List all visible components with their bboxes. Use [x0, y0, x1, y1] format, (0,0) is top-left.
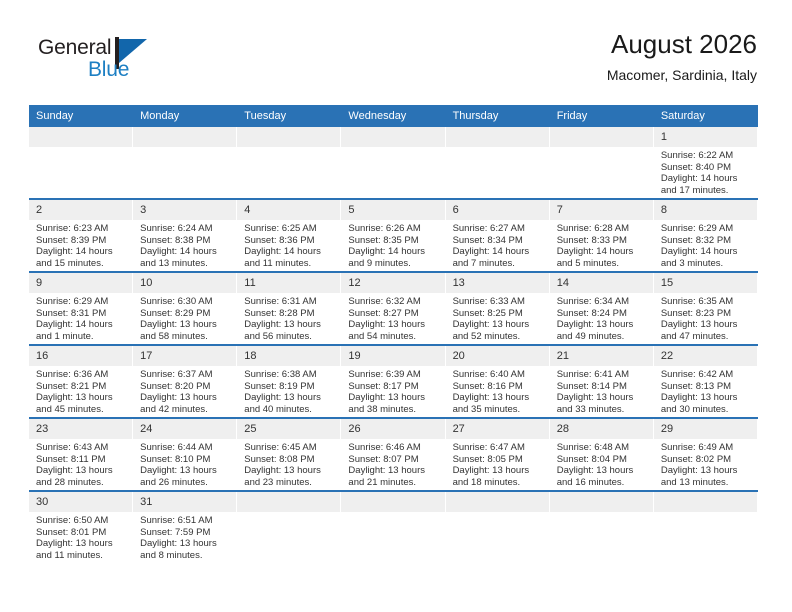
sunset-text: Sunset: 8:07 PM [348, 454, 440, 466]
daylight-text-line1: Daylight: 14 hours [36, 246, 128, 258]
title-block: August 2026 Macomer, Sardinia, Italy [607, 30, 757, 83]
sunset-text: Sunset: 8:24 PM [557, 308, 649, 320]
page-header: General Blue August 2026 Macomer, Sardin… [0, 0, 792, 100]
daylight-text-line2: and 40 minutes. [244, 404, 336, 416]
sunrise-text: Sunrise: 6:37 AM [140, 369, 232, 381]
calendar-cell-empty [341, 491, 445, 563]
sunrise-text: Sunrise: 6:25 AM [244, 223, 336, 235]
day-number: 10 [133, 273, 237, 293]
day-details: Sunrise: 6:28 AMSunset: 8:33 PMDaylight:… [550, 220, 654, 269]
calendar-cell-empty [29, 127, 133, 199]
calendar-day-cell[interactable]: 1Sunrise: 6:22 AMSunset: 8:40 PMDaylight… [654, 127, 758, 199]
calendar-day-cell[interactable]: 20Sunrise: 6:40 AMSunset: 8:16 PMDayligh… [446, 345, 550, 418]
daylight-text-line1: Daylight: 13 hours [453, 465, 545, 477]
day-details: Sunrise: 6:31 AMSunset: 8:28 PMDaylight:… [237, 293, 341, 342]
daylight-text-line2: and 58 minutes. [140, 331, 232, 343]
sunrise-text: Sunrise: 6:29 AM [36, 296, 128, 308]
daylight-text-line2: and 28 minutes. [36, 477, 128, 489]
daylight-text-line1: Daylight: 13 hours [244, 465, 336, 477]
daylight-text-line2: and 33 minutes. [557, 404, 649, 416]
sunset-text: Sunset: 8:01 PM [36, 527, 128, 539]
calendar-day-cell[interactable]: 17Sunrise: 6:37 AMSunset: 8:20 PMDayligh… [133, 345, 237, 418]
daylight-text-line1: Daylight: 14 hours [453, 246, 545, 258]
day-number [341, 492, 445, 512]
day-details: Sunrise: 6:35 AMSunset: 8:23 PMDaylight:… [654, 293, 758, 342]
calendar-day-cell[interactable]: 18Sunrise: 6:38 AMSunset: 8:19 PMDayligh… [237, 345, 341, 418]
daylight-text-line1: Daylight: 13 hours [36, 465, 128, 477]
sunset-text: Sunset: 8:04 PM [557, 454, 649, 466]
daylight-text-line1: Daylight: 13 hours [244, 319, 336, 331]
sunrise-text: Sunrise: 6:35 AM [661, 296, 753, 308]
daylight-text-line2: and 21 minutes. [348, 477, 440, 489]
daylight-text-line1: Daylight: 14 hours [244, 246, 336, 258]
day-number: 25 [237, 419, 341, 439]
daylight-text-line2: and 49 minutes. [557, 331, 649, 343]
day-number: 17 [133, 346, 237, 366]
sunrise-text: Sunrise: 6:47 AM [453, 442, 545, 454]
weekday-header-saturday: Saturday [654, 105, 758, 127]
daylight-text-line2: and 26 minutes. [140, 477, 232, 489]
daylight-text-line1: Daylight: 13 hours [557, 392, 649, 404]
day-details: Sunrise: 6:45 AMSunset: 8:08 PMDaylight:… [237, 439, 341, 488]
day-details [237, 147, 341, 150]
calendar-table: Sunday Monday Tuesday Wednesday Thursday… [29, 105, 758, 563]
weekday-header-friday: Friday [550, 105, 654, 127]
daylight-text-line1: Daylight: 13 hours [140, 465, 232, 477]
day-details: Sunrise: 6:38 AMSunset: 8:19 PMDaylight:… [237, 366, 341, 415]
calendar-day-cell[interactable]: 12Sunrise: 6:32 AMSunset: 8:27 PMDayligh… [341, 272, 445, 345]
calendar-day-cell[interactable]: 9Sunrise: 6:29 AMSunset: 8:31 PMDaylight… [29, 272, 133, 345]
daylight-text-line2: and 18 minutes. [453, 477, 545, 489]
sunset-text: Sunset: 8:13 PM [661, 381, 753, 393]
calendar-week-row: 23Sunrise: 6:43 AMSunset: 8:11 PMDayligh… [29, 418, 758, 491]
day-details: Sunrise: 6:37 AMSunset: 8:20 PMDaylight:… [133, 366, 237, 415]
day-details: Sunrise: 6:33 AMSunset: 8:25 PMDaylight:… [446, 293, 550, 342]
day-details: Sunrise: 6:43 AMSunset: 8:11 PMDaylight:… [29, 439, 133, 488]
day-number: 3 [133, 200, 237, 220]
calendar-day-cell[interactable]: 7Sunrise: 6:28 AMSunset: 8:33 PMDaylight… [550, 199, 654, 272]
daylight-text-line1: Daylight: 13 hours [557, 465, 649, 477]
day-number: 30 [29, 492, 133, 512]
sunrise-text: Sunrise: 6:41 AM [557, 369, 649, 381]
sunrise-text: Sunrise: 6:38 AM [244, 369, 336, 381]
sunrise-text: Sunrise: 6:48 AM [557, 442, 649, 454]
sunrise-text: Sunrise: 6:22 AM [661, 150, 753, 162]
sunrise-text: Sunrise: 6:27 AM [453, 223, 545, 235]
daylight-text-line2: and 45 minutes. [36, 404, 128, 416]
brand-name-general: General [38, 36, 111, 60]
day-number: 19 [341, 346, 445, 366]
weekday-header-sunday: Sunday [29, 105, 133, 127]
sunset-text: Sunset: 8:21 PM [36, 381, 128, 393]
daylight-text-line1: Daylight: 13 hours [140, 392, 232, 404]
daylight-text-line1: Daylight: 13 hours [348, 319, 440, 331]
daylight-text-line2: and 8 minutes. [140, 550, 232, 562]
sunset-text: Sunset: 8:33 PM [557, 235, 649, 247]
day-number: 12 [341, 273, 445, 293]
day-number [550, 127, 654, 147]
daylight-text-line2: and 23 minutes. [244, 477, 336, 489]
brand-logo[interactable]: General Blue [38, 36, 278, 90]
calendar-week-row: 1Sunrise: 6:22 AMSunset: 8:40 PMDaylight… [29, 127, 758, 199]
calendar-day-cell[interactable]: 29Sunrise: 6:49 AMSunset: 8:02 PMDayligh… [654, 418, 758, 491]
day-number: 7 [550, 200, 654, 220]
calendar-day-cell[interactable]: 4Sunrise: 6:25 AMSunset: 8:36 PMDaylight… [237, 199, 341, 272]
day-details: Sunrise: 6:44 AMSunset: 8:10 PMDaylight:… [133, 439, 237, 488]
sunset-text: Sunset: 8:40 PM [661, 162, 753, 174]
sunset-text: Sunset: 8:20 PM [140, 381, 232, 393]
day-number [446, 492, 550, 512]
day-details: Sunrise: 6:48 AMSunset: 8:04 PMDaylight:… [550, 439, 654, 488]
sunset-text: Sunset: 8:08 PM [244, 454, 336, 466]
daylight-text-line1: Daylight: 13 hours [348, 392, 440, 404]
daylight-text-line1: Daylight: 14 hours [557, 246, 649, 258]
sunset-text: Sunset: 8:14 PM [557, 381, 649, 393]
sunset-text: Sunset: 8:11 PM [36, 454, 128, 466]
day-details: Sunrise: 6:29 AMSunset: 8:32 PMDaylight:… [654, 220, 758, 269]
calendar-day-cell[interactable]: 3Sunrise: 6:24 AMSunset: 8:38 PMDaylight… [133, 199, 237, 272]
day-details: Sunrise: 6:51 AMSunset: 7:59 PMDaylight:… [133, 512, 237, 561]
calendar-week-row: 9Sunrise: 6:29 AMSunset: 8:31 PMDaylight… [29, 272, 758, 345]
calendar-day-cell[interactable]: 27Sunrise: 6:47 AMSunset: 8:05 PMDayligh… [446, 418, 550, 491]
calendar-day-cell[interactable]: 22Sunrise: 6:42 AMSunset: 8:13 PMDayligh… [654, 345, 758, 418]
sunset-text: Sunset: 8:27 PM [348, 308, 440, 320]
sunset-text: Sunset: 8:31 PM [36, 308, 128, 320]
daylight-text-line1: Daylight: 14 hours [661, 173, 753, 185]
calendar-cell-empty [237, 491, 341, 563]
daylight-text-line2: and 15 minutes. [36, 258, 128, 270]
day-number: 13 [446, 273, 550, 293]
sunset-text: Sunset: 8:29 PM [140, 308, 232, 320]
calendar-cell-empty [237, 127, 341, 199]
daylight-text-line1: Daylight: 13 hours [140, 538, 232, 550]
day-details: Sunrise: 6:25 AMSunset: 8:36 PMDaylight:… [237, 220, 341, 269]
sunset-text: Sunset: 8:19 PM [244, 381, 336, 393]
sunset-text: Sunset: 8:36 PM [244, 235, 336, 247]
calendar-cell-empty [550, 127, 654, 199]
weekday-header-wednesday: Wednesday [341, 105, 445, 127]
day-number [237, 127, 341, 147]
day-details: Sunrise: 6:23 AMSunset: 8:39 PMDaylight:… [29, 220, 133, 269]
calendar-day-cell[interactable]: 8Sunrise: 6:29 AMSunset: 8:32 PMDaylight… [654, 199, 758, 272]
day-details: Sunrise: 6:39 AMSunset: 8:17 PMDaylight:… [341, 366, 445, 415]
calendar-day-cell[interactable]: 23Sunrise: 6:43 AMSunset: 8:11 PMDayligh… [29, 418, 133, 491]
weekday-header-thursday: Thursday [446, 105, 550, 127]
day-number: 8 [654, 200, 758, 220]
calendar-body: 1Sunrise: 6:22 AMSunset: 8:40 PMDaylight… [29, 127, 758, 563]
day-details [550, 512, 654, 515]
daylight-text-line2: and 38 minutes. [348, 404, 440, 416]
daylight-text-line1: Daylight: 13 hours [348, 465, 440, 477]
daylight-text-line2: and 11 minutes. [36, 550, 128, 562]
day-details: Sunrise: 6:41 AMSunset: 8:14 PMDaylight:… [550, 366, 654, 415]
day-number [29, 127, 133, 147]
calendar-day-cell[interactable]: 5Sunrise: 6:26 AMSunset: 8:35 PMDaylight… [341, 199, 445, 272]
calendar-day-cell[interactable]: 24Sunrise: 6:44 AMSunset: 8:10 PMDayligh… [133, 418, 237, 491]
day-details: Sunrise: 6:46 AMSunset: 8:07 PMDaylight:… [341, 439, 445, 488]
calendar-cell-empty [550, 491, 654, 563]
day-number [446, 127, 550, 147]
day-number: 6 [446, 200, 550, 220]
sunset-text: Sunset: 8:05 PM [453, 454, 545, 466]
day-details: Sunrise: 6:47 AMSunset: 8:05 PMDaylight:… [446, 439, 550, 488]
sunrise-text: Sunrise: 6:23 AM [36, 223, 128, 235]
daylight-text-line2: and 13 minutes. [140, 258, 232, 270]
sunset-text: Sunset: 8:35 PM [348, 235, 440, 247]
day-details: Sunrise: 6:40 AMSunset: 8:16 PMDaylight:… [446, 366, 550, 415]
day-details [341, 147, 445, 150]
sunset-text: Sunset: 8:17 PM [348, 381, 440, 393]
sunrise-text: Sunrise: 6:28 AM [557, 223, 649, 235]
sunrise-text: Sunrise: 6:43 AM [36, 442, 128, 454]
calendar-day-cell[interactable]: 21Sunrise: 6:41 AMSunset: 8:14 PMDayligh… [550, 345, 654, 418]
daylight-text-line1: Daylight: 13 hours [244, 392, 336, 404]
day-details [446, 512, 550, 515]
day-details: Sunrise: 6:27 AMSunset: 8:34 PMDaylight:… [446, 220, 550, 269]
day-number: 22 [654, 346, 758, 366]
daylight-text-line1: Daylight: 14 hours [348, 246, 440, 258]
day-number: 23 [29, 419, 133, 439]
day-number: 31 [133, 492, 237, 512]
sunset-text: Sunset: 8:38 PM [140, 235, 232, 247]
sunrise-text: Sunrise: 6:31 AM [244, 296, 336, 308]
sunset-text: Sunset: 8:28 PM [244, 308, 336, 320]
day-details: Sunrise: 6:42 AMSunset: 8:13 PMDaylight:… [654, 366, 758, 415]
calendar-day-cell[interactable]: 13Sunrise: 6:33 AMSunset: 8:25 PMDayligh… [446, 272, 550, 345]
day-details: Sunrise: 6:24 AMSunset: 8:38 PMDaylight:… [133, 220, 237, 269]
day-number: 29 [654, 419, 758, 439]
day-details [341, 512, 445, 515]
daylight-text-line1: Daylight: 13 hours [36, 538, 128, 550]
day-details: Sunrise: 6:34 AMSunset: 8:24 PMDaylight:… [550, 293, 654, 342]
day-details: Sunrise: 6:29 AMSunset: 8:31 PMDaylight:… [29, 293, 133, 342]
sunrise-text: Sunrise: 6:24 AM [140, 223, 232, 235]
calendar-day-cell[interactable]: 25Sunrise: 6:45 AMSunset: 8:08 PMDayligh… [237, 418, 341, 491]
sunrise-text: Sunrise: 6:49 AM [661, 442, 753, 454]
sunrise-text: Sunrise: 6:40 AM [453, 369, 545, 381]
daylight-text-line2: and 7 minutes. [453, 258, 545, 270]
calendar-day-cell[interactable]: 2Sunrise: 6:23 AMSunset: 8:39 PMDaylight… [29, 199, 133, 272]
calendar-day-cell[interactable]: 30Sunrise: 6:50 AMSunset: 8:01 PMDayligh… [29, 491, 133, 563]
calendar-day-cell[interactable]: 14Sunrise: 6:34 AMSunset: 8:24 PMDayligh… [550, 272, 654, 345]
brand-name-blue: Blue [88, 58, 129, 82]
sunrise-text: Sunrise: 6:30 AM [140, 296, 232, 308]
daylight-text-line2: and 16 minutes. [557, 477, 649, 489]
sunset-text: Sunset: 8:02 PM [661, 454, 753, 466]
calendar-day-cell[interactable]: 26Sunrise: 6:46 AMSunset: 8:07 PMDayligh… [341, 418, 445, 491]
day-number [550, 492, 654, 512]
sunrise-text: Sunrise: 6:26 AM [348, 223, 440, 235]
daylight-text-line2: and 52 minutes. [453, 331, 545, 343]
calendar-cell-empty [654, 491, 758, 563]
day-details: Sunrise: 6:30 AMSunset: 8:29 PMDaylight:… [133, 293, 237, 342]
day-number: 9 [29, 273, 133, 293]
sunrise-text: Sunrise: 6:36 AM [36, 369, 128, 381]
daylight-text-line2: and 42 minutes. [140, 404, 232, 416]
day-details [237, 512, 341, 515]
day-number: 27 [446, 419, 550, 439]
day-details: Sunrise: 6:50 AMSunset: 8:01 PMDaylight:… [29, 512, 133, 561]
sunrise-text: Sunrise: 6:50 AM [36, 515, 128, 527]
day-number: 15 [654, 273, 758, 293]
daylight-text-line1: Daylight: 13 hours [557, 319, 649, 331]
day-details: Sunrise: 6:26 AMSunset: 8:35 PMDaylight:… [341, 220, 445, 269]
daylight-text-line2: and 13 minutes. [661, 477, 753, 489]
calendar-week-row: 16Sunrise: 6:36 AMSunset: 8:21 PMDayligh… [29, 345, 758, 418]
day-number [133, 127, 237, 147]
day-details: Sunrise: 6:49 AMSunset: 8:02 PMDaylight:… [654, 439, 758, 488]
daylight-text-line2: and 35 minutes. [453, 404, 545, 416]
day-number [654, 492, 758, 512]
calendar-header-row: Sunday Monday Tuesday Wednesday Thursday… [29, 105, 758, 127]
daylight-text-line2: and 17 minutes. [661, 185, 753, 197]
daylight-text-line1: Daylight: 13 hours [661, 465, 753, 477]
day-number: 28 [550, 419, 654, 439]
day-details [446, 147, 550, 150]
sunset-text: Sunset: 8:25 PM [453, 308, 545, 320]
calendar-day-cell[interactable]: 31Sunrise: 6:51 AMSunset: 7:59 PMDayligh… [133, 491, 237, 563]
sunrise-text: Sunrise: 6:32 AM [348, 296, 440, 308]
day-details: Sunrise: 6:22 AMSunset: 8:40 PMDaylight:… [654, 147, 758, 196]
daylight-text-line1: Daylight: 14 hours [140, 246, 232, 258]
sunset-text: Sunset: 8:34 PM [453, 235, 545, 247]
daylight-text-line2: and 9 minutes. [348, 258, 440, 270]
day-number: 20 [446, 346, 550, 366]
day-number [341, 127, 445, 147]
calendar-day-cell[interactable]: 16Sunrise: 6:36 AMSunset: 8:21 PMDayligh… [29, 345, 133, 418]
weekday-header-monday: Monday [133, 105, 237, 127]
day-number: 11 [237, 273, 341, 293]
day-details [133, 147, 237, 150]
page-subtitle: Macomer, Sardinia, Italy [607, 67, 757, 83]
daylight-text-line1: Daylight: 14 hours [36, 319, 128, 331]
day-number: 26 [341, 419, 445, 439]
daylight-text-line1: Daylight: 13 hours [140, 319, 232, 331]
day-details [550, 147, 654, 150]
daylight-text-line1: Daylight: 14 hours [661, 246, 753, 258]
day-number: 4 [237, 200, 341, 220]
daylight-text-line1: Daylight: 13 hours [36, 392, 128, 404]
daylight-text-line2: and 30 minutes. [661, 404, 753, 416]
daylight-text-line2: and 5 minutes. [557, 258, 649, 270]
daylight-text-line1: Daylight: 13 hours [661, 319, 753, 331]
day-details: Sunrise: 6:32 AMSunset: 8:27 PMDaylight:… [341, 293, 445, 342]
day-details [29, 147, 133, 150]
day-number: 2 [29, 200, 133, 220]
calendar-day-cell[interactable]: 6Sunrise: 6:27 AMSunset: 8:34 PMDaylight… [446, 199, 550, 272]
calendar-cell-empty [133, 127, 237, 199]
daylight-text-line2: and 47 minutes. [661, 331, 753, 343]
daylight-text-line2: and 56 minutes. [244, 331, 336, 343]
sunset-text: Sunset: 8:16 PM [453, 381, 545, 393]
daylight-text-line2: and 3 minutes. [661, 258, 753, 270]
day-number: 1 [654, 127, 758, 147]
calendar-day-cell[interactable]: 15Sunrise: 6:35 AMSunset: 8:23 PMDayligh… [654, 272, 758, 345]
day-details [654, 512, 758, 515]
day-number: 5 [341, 200, 445, 220]
day-number [237, 492, 341, 512]
sunrise-text: Sunrise: 6:42 AM [661, 369, 753, 381]
sunrise-text: Sunrise: 6:44 AM [140, 442, 232, 454]
daylight-text-line2: and 11 minutes. [244, 258, 336, 270]
calendar-cell-empty [341, 127, 445, 199]
calendar-week-row: 2Sunrise: 6:23 AMSunset: 8:39 PMDaylight… [29, 199, 758, 272]
daylight-text-line1: Daylight: 13 hours [453, 392, 545, 404]
sunrise-text: Sunrise: 6:46 AM [348, 442, 440, 454]
sunrise-text: Sunrise: 6:34 AM [557, 296, 649, 308]
day-number: 16 [29, 346, 133, 366]
calendar-cell-empty [446, 491, 550, 563]
daylight-text-line2: and 1 minute. [36, 331, 128, 343]
page-title: August 2026 [607, 30, 757, 60]
weekday-header-tuesday: Tuesday [237, 105, 341, 127]
daylight-text-line2: and 54 minutes. [348, 331, 440, 343]
sunset-text: Sunset: 8:39 PM [36, 235, 128, 247]
calendar-week-row: 30Sunrise: 6:50 AMSunset: 8:01 PMDayligh… [29, 491, 758, 563]
day-number: 14 [550, 273, 654, 293]
day-number: 21 [550, 346, 654, 366]
calendar-day-cell[interactable]: 28Sunrise: 6:48 AMSunset: 8:04 PMDayligh… [550, 418, 654, 491]
sunset-text: Sunset: 8:32 PM [661, 235, 753, 247]
calendar-day-cell[interactable]: 19Sunrise: 6:39 AMSunset: 8:17 PMDayligh… [341, 345, 445, 418]
sunrise-text: Sunrise: 6:45 AM [244, 442, 336, 454]
sunset-text: Sunset: 8:23 PM [661, 308, 753, 320]
daylight-text-line1: Daylight: 13 hours [661, 392, 753, 404]
day-number: 24 [133, 419, 237, 439]
sunrise-text: Sunrise: 6:29 AM [661, 223, 753, 235]
sunrise-text: Sunrise: 6:33 AM [453, 296, 545, 308]
calendar-cell-empty [446, 127, 550, 199]
sunset-text: Sunset: 8:10 PM [140, 454, 232, 466]
day-number: 18 [237, 346, 341, 366]
calendar-page: General Blue August 2026 Macomer, Sardin… [0, 0, 792, 612]
sunrise-text: Sunrise: 6:51 AM [140, 515, 232, 527]
calendar-day-cell[interactable]: 10Sunrise: 6:30 AMSunset: 8:29 PMDayligh… [133, 272, 237, 345]
daylight-text-line1: Daylight: 13 hours [453, 319, 545, 331]
calendar-day-cell[interactable]: 11Sunrise: 6:31 AMSunset: 8:28 PMDayligh… [237, 272, 341, 345]
sunrise-text: Sunrise: 6:39 AM [348, 369, 440, 381]
day-details: Sunrise: 6:36 AMSunset: 8:21 PMDaylight:… [29, 366, 133, 415]
sunset-text: Sunset: 7:59 PM [140, 527, 232, 539]
